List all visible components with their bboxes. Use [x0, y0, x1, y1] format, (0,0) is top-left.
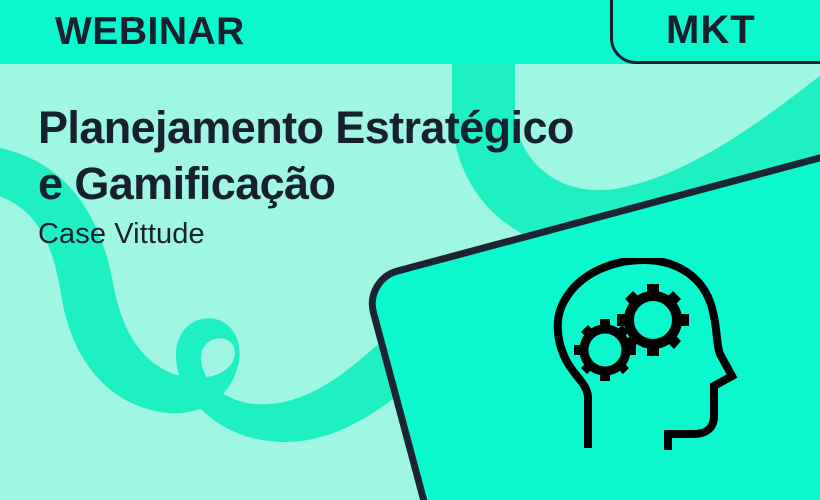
subtitle: Case Vittude: [38, 216, 718, 252]
category-label: WEBINAR: [55, 9, 245, 54]
head-with-gears-icon: [548, 258, 738, 453]
header-bar: WEBINAR MKT: [0, 0, 820, 64]
page-title-line-1: Planejamento Estratégico: [38, 100, 718, 156]
page-title-line-2: e Gamificação: [38, 156, 718, 212]
webinar-banner: WEBINAR MKT Planejamento Estratégico e G…: [0, 0, 820, 500]
mkt-badge-label: MKT: [666, 6, 756, 54]
title-block: Planejamento Estratégico e Gamificação C…: [38, 100, 718, 252]
